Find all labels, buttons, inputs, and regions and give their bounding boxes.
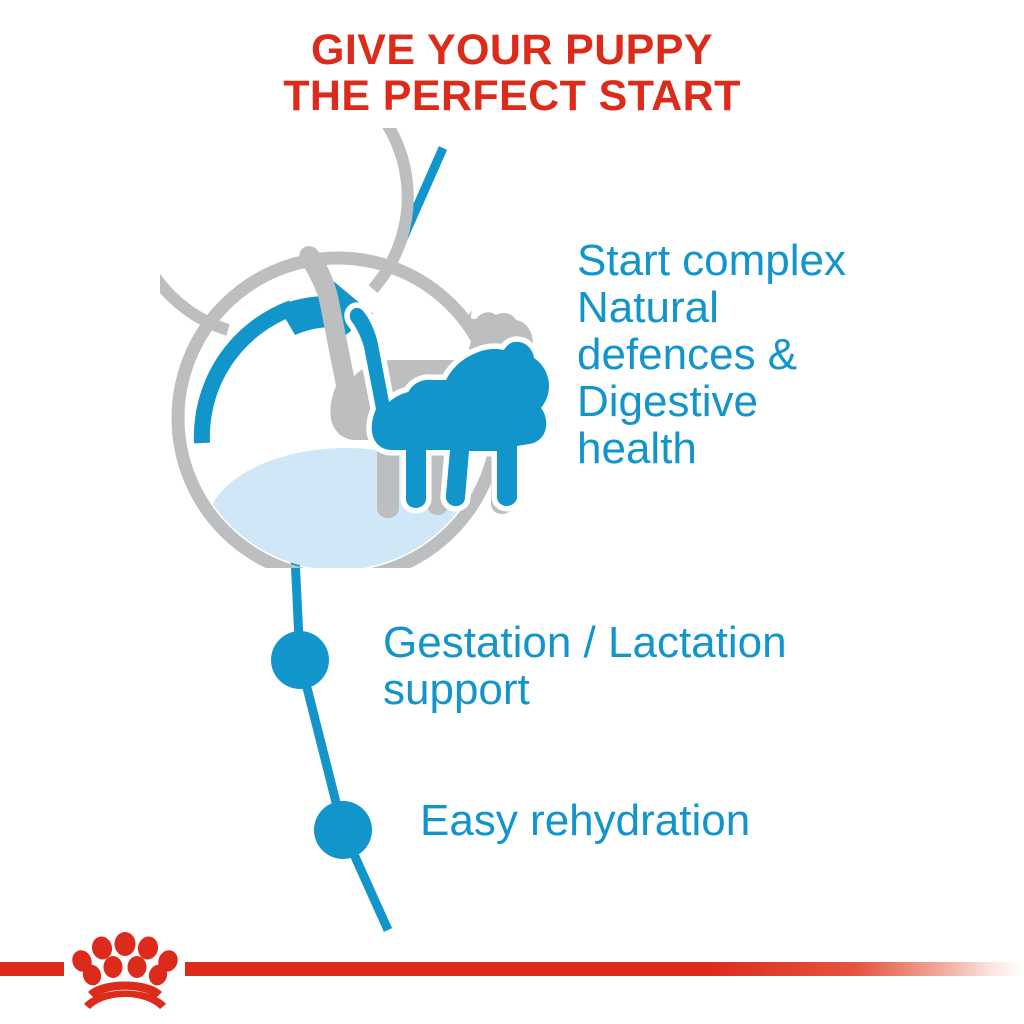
benefit-line: defences & bbox=[577, 331, 846, 378]
page-title-line-2: THE PERFECT START bbox=[0, 73, 1024, 119]
benefit-text-easy-rehydration: Easy rehydration bbox=[420, 797, 750, 844]
benefit-line: Gestation / Lactation bbox=[383, 619, 787, 666]
inner-grey-arc bbox=[160, 128, 408, 330]
poster-canvas: GIVE YOUR PUPPY THE PERFECT START bbox=[0, 0, 1024, 1024]
benefit-line: health bbox=[577, 425, 846, 472]
benefit-line: Natural bbox=[577, 284, 846, 331]
benefit-text-natural-defences: Start complex Natural defences & Digesti… bbox=[577, 237, 846, 472]
benefit-line: Digestive bbox=[577, 378, 846, 425]
connector-segment-2 bbox=[300, 660, 343, 830]
connector-segment-1 bbox=[295, 557, 300, 660]
connector-node-rehydration bbox=[314, 801, 372, 859]
brand-footer bbox=[0, 930, 1024, 1024]
benefit-line: support bbox=[383, 666, 787, 713]
connector-node-gestation bbox=[271, 631, 329, 689]
benefit-line: Easy rehydration bbox=[420, 797, 750, 844]
royal-canin-crown-logo bbox=[64, 930, 186, 1010]
connector-segment-3 bbox=[343, 830, 388, 930]
page-title: GIVE YOUR PUPPY THE PERFECT START bbox=[0, 27, 1024, 119]
brand-rule-right bbox=[185, 962, 1024, 976]
benefit-line: Start complex bbox=[577, 237, 846, 284]
benefit-text-gestation-lactation: Gestation / Lactation support bbox=[383, 619, 787, 713]
brand-rule-left bbox=[0, 962, 64, 976]
adult-dog-and-puppy-in-circle-icon bbox=[160, 128, 550, 568]
page-title-line-1: GIVE YOUR PUPPY bbox=[0, 27, 1024, 73]
